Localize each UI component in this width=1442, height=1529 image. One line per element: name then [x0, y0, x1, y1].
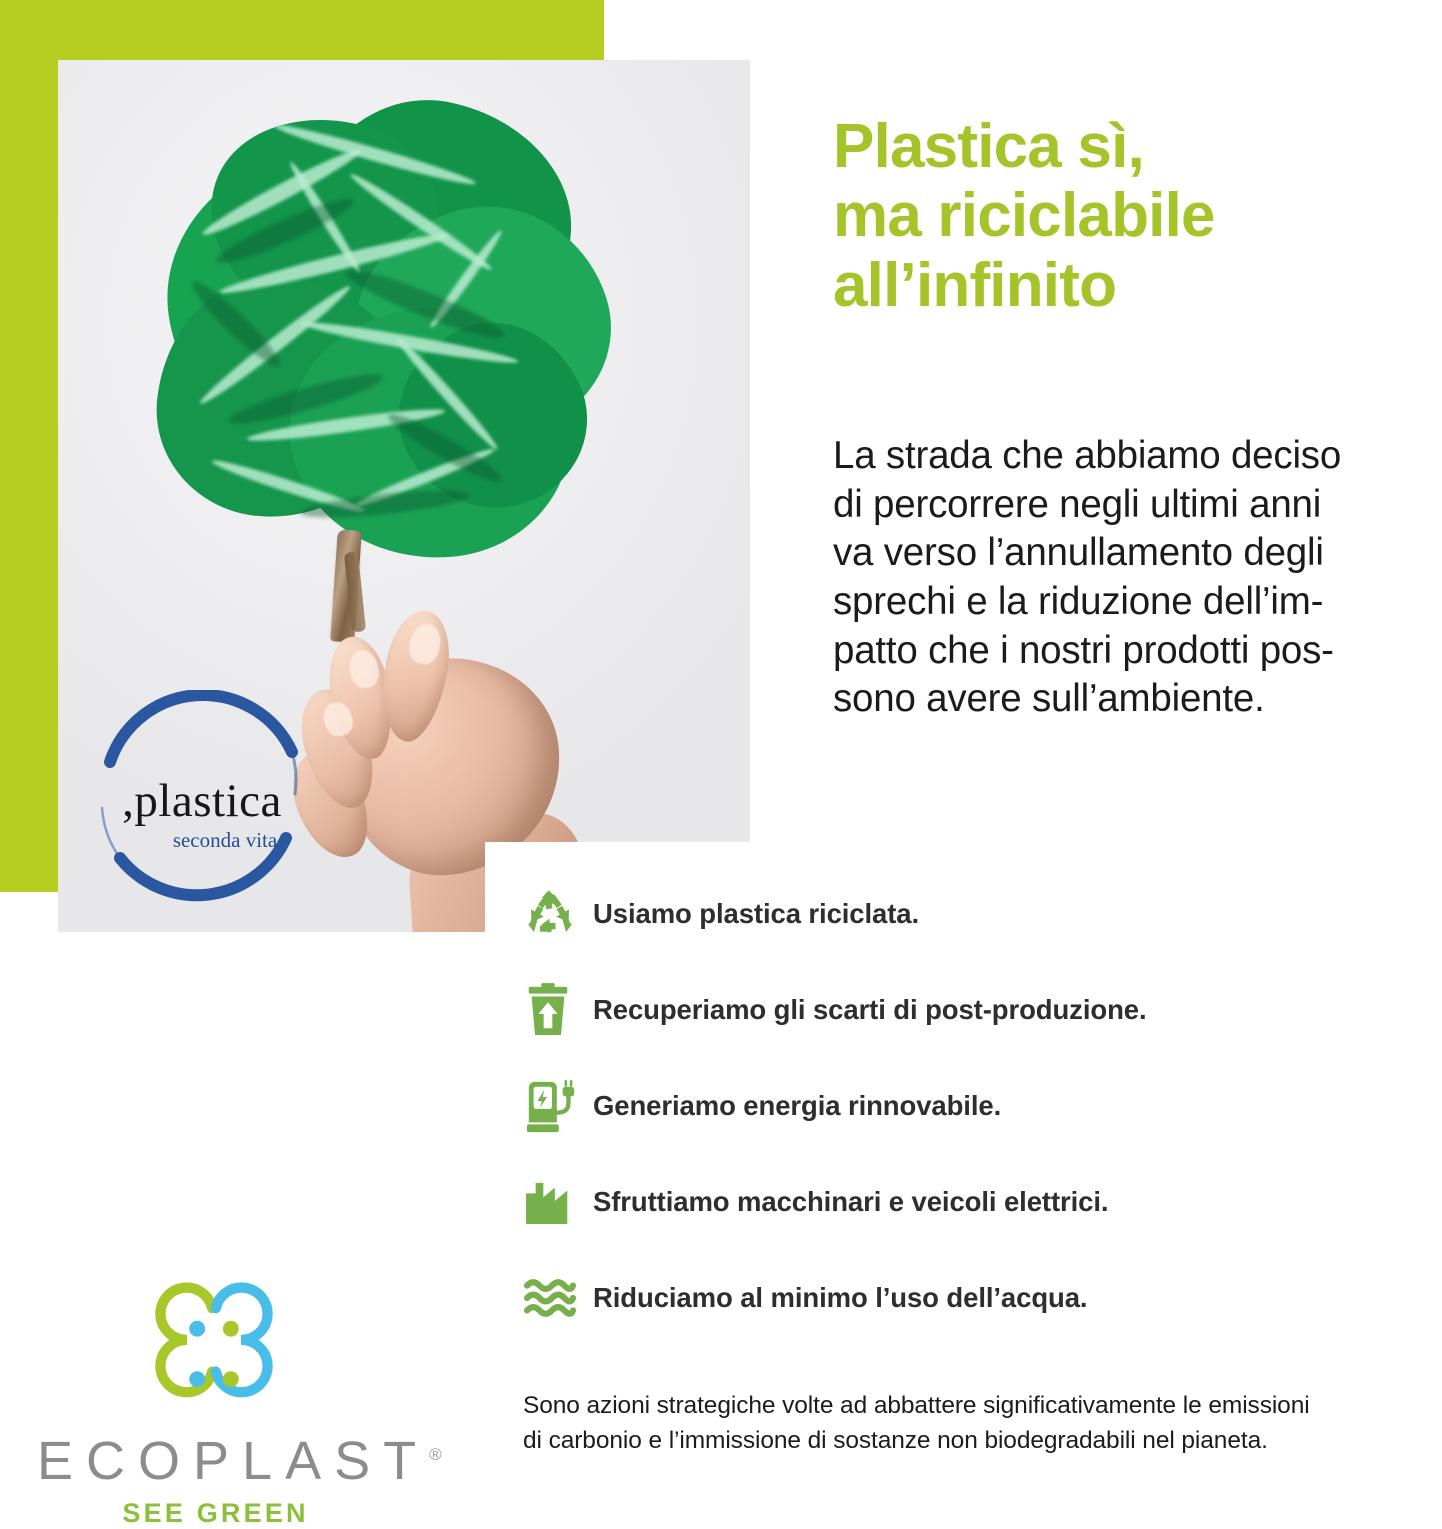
brand-tagline: SEE GREEN — [24, 1498, 404, 1529]
brand-name: ECOPLAST® — [24, 1430, 404, 1492]
list-item: Sfruttiamo macchinari e veicoli elettric… — [517, 1154, 1377, 1250]
lede-line-3: va verso l’annullamento degli — [833, 529, 1442, 578]
list-item: Riduciamo al minimo l’uso dell’acqua. — [517, 1250, 1377, 1346]
footnote: Sono azioni strategiche volte ad abbatte… — [523, 1389, 1442, 1459]
trash-up-arrow-icon — [517, 979, 593, 1041]
brand-name-text: ECOPLAST — [37, 1431, 429, 1491]
headline-line-2: ma riciclabile — [833, 181, 1433, 250]
list-item-label: Recuperiamo gli scarti di post-produzion… — [593, 994, 1147, 1026]
page-title: Plastica sì, ma riciclabile all’infinito — [833, 112, 1433, 320]
headline-line-3: all’infinito — [833, 251, 1433, 320]
butterfly-clover-icon — [139, 1282, 289, 1424]
water-waves-icon — [517, 1267, 593, 1329]
registered-mark: ® — [429, 1445, 442, 1464]
list-item-label: Generiamo energia rinnovabile. — [593, 1090, 1001, 1122]
footnote-line-2: di carbonio e l’immissione di sostanze n… — [523, 1424, 1442, 1459]
list-item: Generiamo energia rinnovabile. — [517, 1058, 1377, 1154]
list-item-label: Sfruttiamo macchinari e veicoli elettric… — [593, 1186, 1108, 1218]
lede-line-4: sprechi e la riduzione dell’im- — [833, 578, 1442, 627]
paper-tree-canopy — [150, 88, 580, 558]
lede-line-1: La strada che abbiamo deciso — [833, 432, 1442, 481]
lede-line-2: di percorrere negli ultimi anni — [833, 481, 1442, 530]
lede-line-6: sono avere sull’ambiente. — [833, 675, 1442, 724]
brand-logo: ECOPLAST® SEE GREEN — [24, 1282, 404, 1529]
intro-paragraph: La strada che abbiamo deciso di percorre… — [833, 432, 1442, 724]
list-item: Usiamo plastica riciclata. — [517, 866, 1377, 962]
list-item: Recuperiamo gli scarti di post-produzion… — [517, 962, 1377, 1058]
ev-charging-icon — [517, 1075, 593, 1137]
hero-photo: ,plastica seconda vita — [58, 60, 750, 932]
recycle-icon — [517, 883, 593, 945]
psv-subwordmark: seconda vita — [132, 830, 318, 851]
list-item-label: Usiamo plastica riciclata. — [593, 898, 919, 930]
headline-line-1: Plastica sì, — [833, 112, 1433, 181]
lede-line-5: patto che i nostri prodotti pos- — [833, 627, 1442, 676]
psv-wordmark: ,plastica — [86, 778, 318, 825]
list-item-label: Riduciamo al minimo l’uso dell’acqua. — [593, 1282, 1087, 1314]
actions-list: Usiamo plastica riciclata. Recuperiamo g… — [517, 866, 1377, 1346]
factory-icon — [517, 1171, 593, 1233]
plastica-seconda-vita-logo: ,plastica seconda vita — [80, 690, 320, 920]
footnote-line-1: Sono azioni strategiche volte ad abbatte… — [523, 1389, 1442, 1424]
